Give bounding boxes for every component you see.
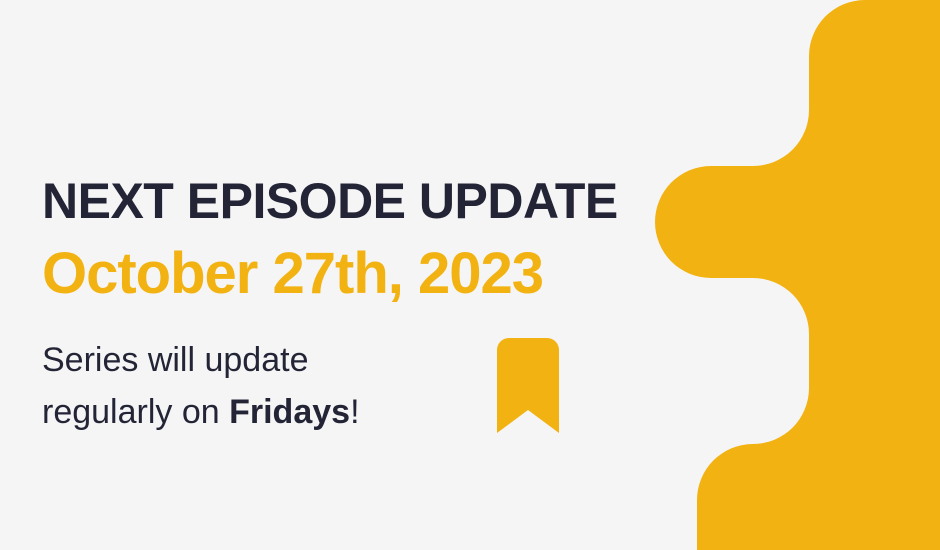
schedule-note-tail: ! — [350, 393, 359, 431]
episode-date: October 27th, 2023 — [42, 240, 543, 308]
page-title: NEXT EPISODE UPDATE — [42, 172, 618, 230]
next-episode-banner: NEXT EPISODE UPDATE October 27th, 2023 S… — [0, 0, 940, 550]
bookmark-icon — [497, 338, 559, 433]
schedule-note: Series will update regularly on Fridays! — [42, 334, 442, 438]
banner-content: NEXT EPISODE UPDATE October 27th, 2023 S… — [42, 0, 682, 550]
schedule-note-emphasis: Fridays — [229, 393, 350, 431]
